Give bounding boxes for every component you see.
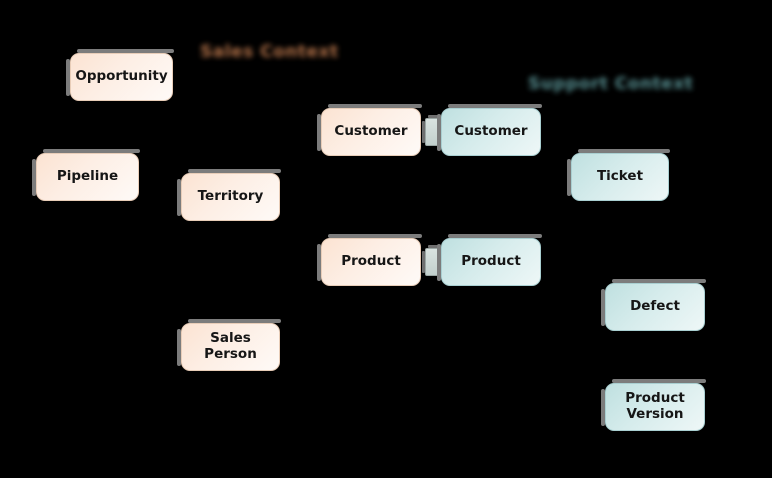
entity-node-label: Ticket: [597, 169, 643, 185]
entity-node-label: Defect: [630, 299, 680, 315]
entity-node-sales-person[interactable]: Sales Person: [181, 323, 280, 371]
entity-node-label: Product Version: [606, 391, 704, 422]
entity-node-label: Opportunity: [75, 69, 167, 85]
entity-node-product-version[interactable]: Product Version: [605, 383, 705, 431]
entity-node-territory[interactable]: Territory: [181, 173, 280, 221]
context-title-support-context: Support Context: [528, 74, 693, 94]
entity-node-label: Customer: [334, 124, 407, 140]
entity-node-label: Customer: [454, 124, 527, 140]
entity-node-label: Product: [461, 254, 521, 270]
entity-node-label: Sales Person: [182, 331, 279, 362]
entity-node-pipeline[interactable]: Pipeline: [36, 153, 139, 201]
entity-node-opportunity[interactable]: Opportunity: [70, 53, 173, 101]
entity-node-label: Product: [341, 254, 401, 270]
entity-node-defect[interactable]: Defect: [605, 283, 705, 331]
entity-node-customer-sales[interactable]: Customer: [321, 108, 421, 156]
entity-node-ticket[interactable]: Ticket: [571, 153, 669, 201]
entity-node-label: Pipeline: [57, 169, 118, 185]
entity-node-product-support[interactable]: Product: [441, 238, 541, 286]
entity-node-product-sales[interactable]: Product: [321, 238, 421, 286]
entity-node-customer-support[interactable]: Customer: [441, 108, 541, 156]
diagram-canvas: Sales ContextSupport ContextOpportunityP…: [0, 0, 772, 478]
context-title-sales-context: Sales Context: [200, 42, 339, 62]
entity-node-label: Territory: [198, 189, 264, 205]
